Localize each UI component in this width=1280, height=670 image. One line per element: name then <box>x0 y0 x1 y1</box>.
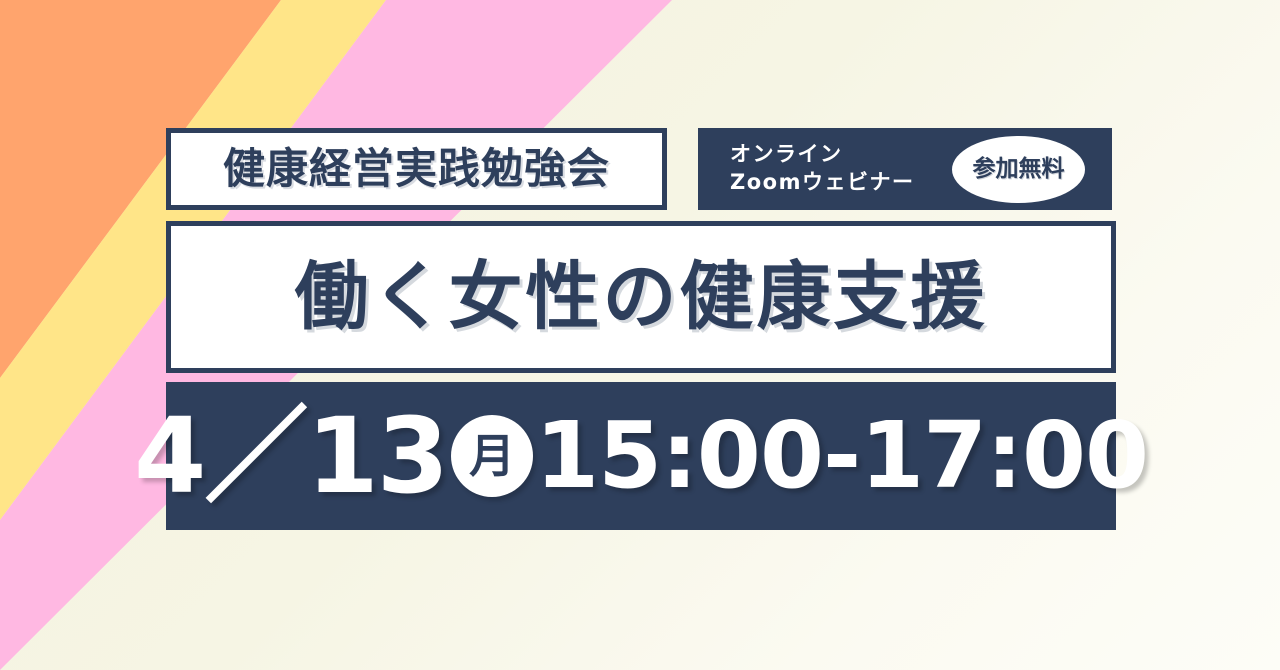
event-poster: 健康経営実践勉強会 オンライン Zoomウェビナー 参加無料 働く女性の健康支援… <box>0 0 1280 670</box>
online-format-line-1: オンライン <box>730 142 914 168</box>
series-title-box: 健康経営実践勉強会 <box>166 128 667 210</box>
free-admission-label: 参加無料 <box>973 158 1065 181</box>
weekday-circle: 月 <box>451 415 533 497</box>
online-format-lines: オンライン Zoomウェビナー <box>730 142 914 195</box>
online-format-line-2: Zoomウェビナー <box>730 170 914 196</box>
schedule-bar: 4／13 月 15:00-17:00 <box>166 382 1116 530</box>
event-time-range: 15:00-17:00 <box>535 410 1148 502</box>
headline-text: 働く女性の健康支援 <box>295 260 988 334</box>
series-title-text: 健康経営実践勉強会 <box>223 148 610 190</box>
weekday-label: 月 <box>469 433 515 479</box>
headline-box: 働く女性の健康支援 <box>166 221 1116 373</box>
free-admission-badge: 参加無料 <box>952 136 1085 203</box>
event-date: 4／13 <box>134 404 447 508</box>
